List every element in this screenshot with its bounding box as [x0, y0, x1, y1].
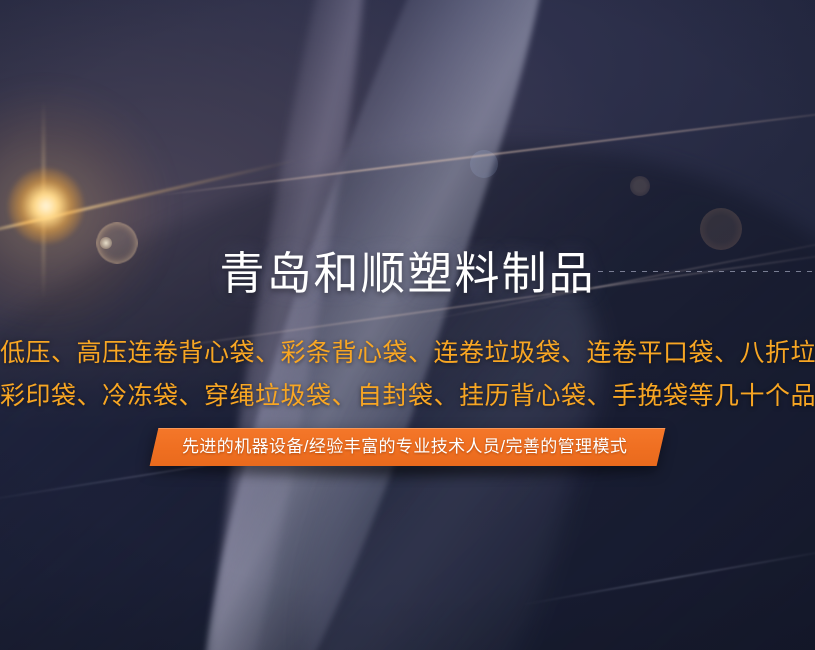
product-line-2: 彩印袋、冷冻袋、穿绳垃圾袋、自封袋、挂历背心袋、手挽袋等几十个品种: [0, 375, 815, 418]
banner-content: 青岛和顺塑料制品 低压、高压连卷背心袋、彩条背心袋、连卷垃圾袋、连卷平口袋、八折…: [0, 0, 815, 650]
title-row: 青岛和顺塑料制品: [0, 246, 815, 302]
product-line-1: 低压、高压连卷背心袋、彩条背心袋、连卷垃圾袋、连卷平口袋、八折垃圾袋、: [0, 332, 815, 375]
promotional-banner: 青岛和顺塑料制品 低压、高压连卷背心袋、彩条背心袋、连卷垃圾袋、连卷平口袋、八折…: [0, 0, 815, 650]
ribbon-drop-shadow: [158, 466, 658, 484]
tagline-ribbon: 先进的机器设备/经验丰富的专业技术人员/完善的管理模式: [149, 428, 665, 466]
product-list: 低压、高压连卷背心袋、彩条背心袋、连卷垃圾袋、连卷平口袋、八折垃圾袋、 彩印袋、…: [0, 332, 815, 418]
ribbon-row: 先进的机器设备/经验丰富的专业技术人员/完善的管理模式: [0, 428, 815, 466]
company-title: 青岛和顺塑料制品: [219, 246, 595, 302]
title-dashed-rule: [598, 271, 812, 272]
tagline-text: 先进的机器设备/经验丰富的专业技术人员/完善的管理模式: [182, 428, 627, 466]
